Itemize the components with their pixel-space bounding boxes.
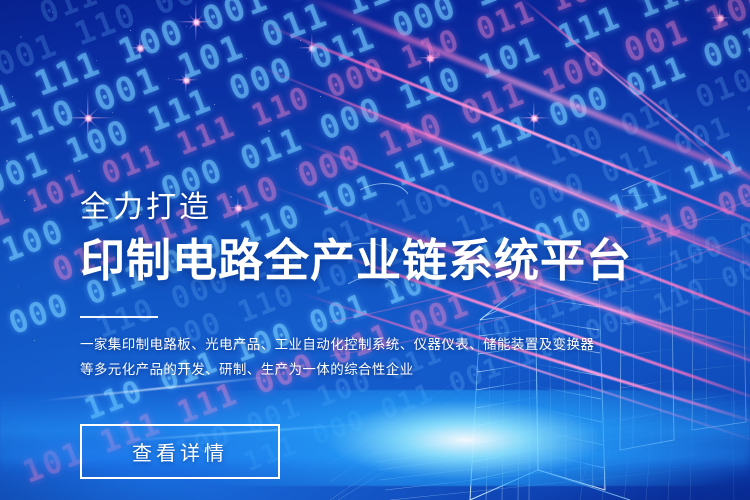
hero-description-line-1: 一家集印制电路板、光电产品、工业自动化控制系统、仪器仪表、储能装置及变换器 — [80, 332, 620, 357]
hero-description-line-2: 等多元化产品的开发、研制、生产为一体的综合性企业 — [80, 357, 620, 382]
hero-eyebrow: 全力打造 — [80, 190, 620, 226]
hero-banner: 011 010 111 111 100 001 100 111 000 011 … — [0, 0, 750, 500]
divider-rule — [80, 316, 158, 318]
view-details-button[interactable]: 查看详情 — [80, 424, 280, 479]
hero-headline: 印制电路全产业链系统平台 — [80, 234, 620, 288]
hero-copy: 全力打造 印制电路全产业链系统平台 一家集印制电路板、光电产品、工业自动化控制系… — [80, 190, 620, 479]
